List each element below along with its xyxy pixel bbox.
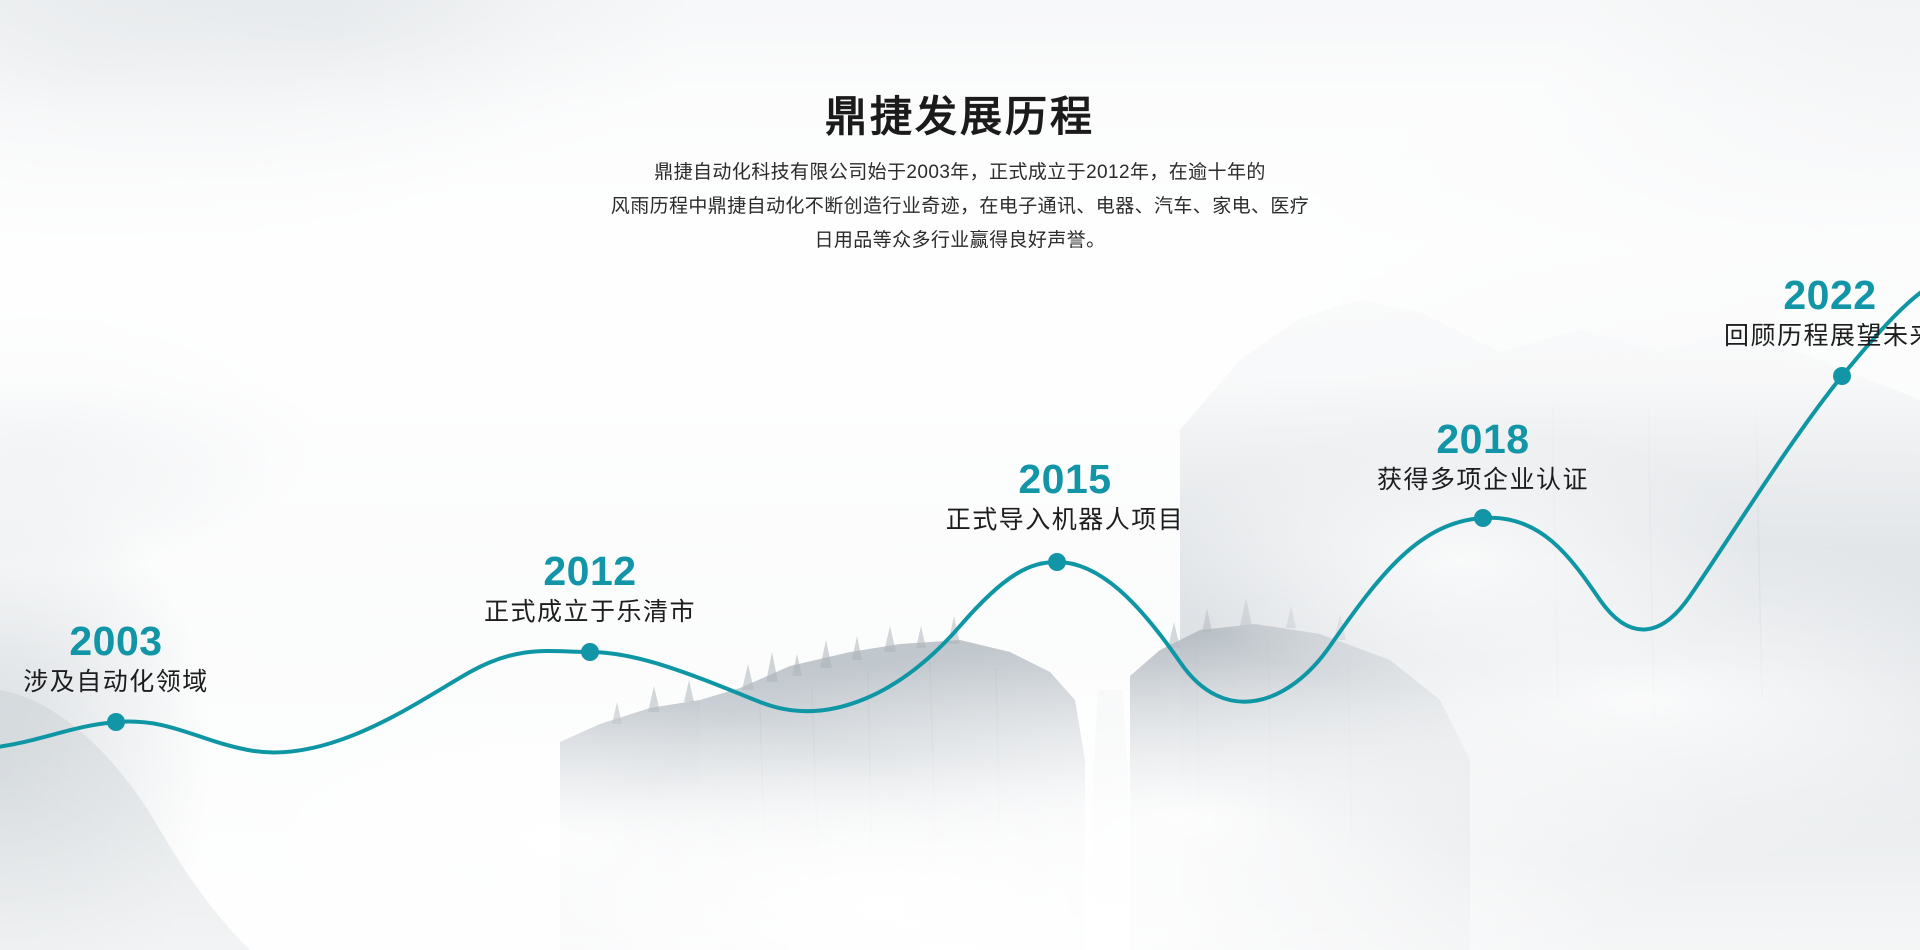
milestone-dot-2022[interactable] [1833, 367, 1851, 385]
timeline-infographic: 鼎捷发展历程 鼎捷自动化科技有限公司始于2003年，正式成立于2012年，在逾十… [0, 0, 1920, 950]
milestone-2018[interactable]: 2018获得多项企业认证 [1377, 418, 1589, 496]
milestone-description: 正式导入机器人项目 [946, 505, 1185, 536]
milestone-2022[interactable]: 2022回顾历程展望未来 [1724, 274, 1920, 352]
milestone-2012[interactable]: 2012正式成立于乐清市 [484, 550, 696, 628]
milestone-2015[interactable]: 2015正式导入机器人项目 [946, 458, 1185, 536]
description-line: 风雨历程中鼎捷自动化不断创造行业奇迹，在电子通讯、电器、汽车、家电、医疗 [555, 190, 1365, 224]
header: 鼎捷发展历程 鼎捷自动化科技有限公司始于2003年，正式成立于2012年，在逾十… [0, 92, 1920, 258]
milestone-year-label: 2015 [946, 458, 1185, 501]
page-description: 鼎捷自动化科技有限公司始于2003年，正式成立于2012年，在逾十年的 风雨历程… [555, 156, 1365, 258]
milestone-year-label: 2022 [1724, 274, 1920, 317]
milestone-year-label: 2012 [484, 550, 696, 593]
milestone-description: 正式成立于乐清市 [484, 597, 696, 628]
description-line: 日用品等众多行业赢得良好声誉。 [555, 224, 1365, 258]
page-title: 鼎捷发展历程 [0, 92, 1920, 142]
milestone-year-label: 2003 [23, 620, 209, 663]
milestone-dot-2003[interactable] [107, 713, 125, 731]
milestone-dot-2018[interactable] [1474, 509, 1492, 527]
milestone-dot-2015[interactable] [1048, 553, 1066, 571]
milestone-description: 涉及自动化领域 [23, 667, 209, 698]
description-line: 鼎捷自动化科技有限公司始于2003年，正式成立于2012年，在逾十年的 [555, 156, 1365, 190]
timeline-dot-group [107, 367, 1851, 731]
milestone-description: 回顾历程展望未来 [1724, 321, 1920, 352]
milestone-2003[interactable]: 2003涉及自动化领域 [23, 620, 209, 698]
milestone-year-label: 2018 [1377, 418, 1589, 461]
milestone-description: 获得多项企业认证 [1377, 465, 1589, 496]
milestone-dot-2012[interactable] [581, 643, 599, 661]
